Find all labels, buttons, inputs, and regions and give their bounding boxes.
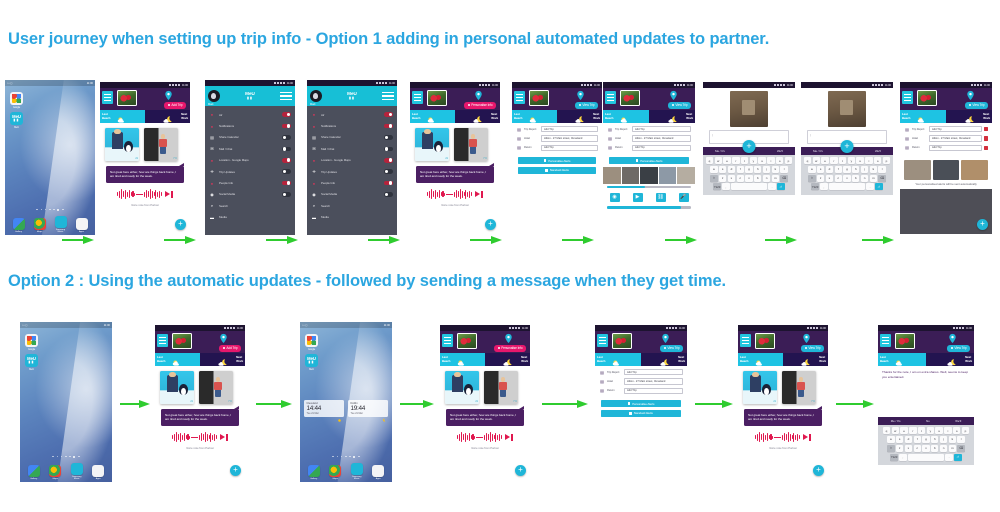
photo-card[interactable]: 7 C: [782, 371, 816, 404]
suggestion[interactable]: Me / It's: [813, 149, 823, 153]
key-d[interactable]: d: [728, 166, 735, 173]
settings-row[interactable]: ▬Media: [307, 212, 397, 223]
key-u[interactable]: u: [935, 427, 942, 434]
key-j[interactable]: j: [940, 436, 947, 443]
key-f[interactable]: f: [737, 166, 744, 173]
key-d[interactable]: d: [905, 436, 912, 443]
key-b[interactable]: b: [931, 445, 938, 452]
space-key[interactable]: [731, 183, 767, 190]
page-title-option-2: Option 2 : Using the automatic updates -…: [8, 272, 726, 291]
settings-label: Media: [219, 215, 291, 219]
settings-toggle[interactable]: [282, 158, 291, 163]
photo-card[interactable]: 7 C: [484, 371, 518, 404]
apps-icon[interactable]: Apps: [76, 218, 88, 233]
media-thumbnail[interactable]: [677, 167, 695, 184]
form-input[interactable]: Hilton - 27 Main street, Cleveland: [632, 135, 691, 141]
key-h[interactable]: h: [754, 166, 761, 173]
maps-icon[interactable]: Maps: [329, 465, 341, 480]
cta-button[interactable]: Add Trip: [164, 102, 186, 109]
key-e[interactable]: e: [723, 157, 730, 164]
key-f[interactable]: f: [914, 436, 921, 443]
meu-glyph: MeU▮▮: [305, 354, 318, 367]
key-h[interactable]: h: [931, 436, 938, 443]
trip-photo-thumbnail[interactable]: [172, 333, 192, 349]
play-icon[interactable]: [220, 434, 227, 441]
settings-toggle[interactable]: [282, 181, 291, 186]
play-icon[interactable]: [475, 191, 482, 198]
media-thumbnail[interactable]: [622, 167, 640, 184]
settings-row[interactable]: ●Notifications: [205, 120, 295, 131]
enter-key[interactable]: ⏎: [954, 454, 961, 461]
form-input[interactable]: Add Trip: [624, 388, 683, 394]
num-key[interactable]: ?123: [890, 454, 897, 461]
fab-add-button[interactable]: +: [230, 465, 241, 476]
audio-waveform[interactable]: [410, 188, 500, 200]
key-v[interactable]: v: [843, 175, 850, 182]
audio-waveform[interactable]: [738, 431, 828, 443]
key-j[interactable]: j: [763, 166, 770, 173]
gallery-icon[interactable]: Gallery: [308, 465, 320, 480]
hamburger-icon[interactable]: [102, 91, 113, 104]
fab-add-button[interactable]: +: [977, 219, 988, 230]
confirm-thumbnail[interactable]: [904, 160, 931, 180]
settings-toggle[interactable]: [282, 135, 291, 140]
settings-row[interactable]: ●Air: [307, 109, 397, 120]
comma-key[interactable]: ,: [820, 183, 827, 190]
form-input[interactable]: Add Trip: [632, 126, 691, 132]
status-icon: [227, 327, 229, 330]
hamburger-icon[interactable]: [902, 91, 913, 104]
hamburger-icon[interactable]: [880, 334, 891, 347]
photo-card[interactable]: 7 C: [199, 371, 233, 404]
hamburger-icon[interactable]: [280, 92, 292, 100]
location-pin-icon[interactable]: [947, 333, 958, 344]
photo-card[interactable]: 7 C: [454, 128, 488, 161]
cta-button[interactable]: Personalise Info: [464, 102, 496, 109]
trip-photo-thumbnail[interactable]: [755, 333, 775, 349]
avatar[interactable]: [208, 90, 220, 102]
key-x[interactable]: x: [728, 175, 735, 182]
apps-icon[interactable]: Apps: [92, 465, 104, 480]
key-s[interactable]: s: [719, 166, 726, 173]
wave-bar: [765, 435, 766, 440]
status-icon: [283, 82, 285, 85]
photo-card[interactable]: 21: [415, 128, 449, 161]
app-brand: MeU▮▮: [347, 91, 357, 101]
hamburger-icon[interactable]: [382, 92, 394, 100]
location-pin-icon[interactable]: [575, 90, 586, 101]
key-a[interactable]: a: [710, 166, 717, 173]
key-t[interactable]: t: [741, 157, 748, 164]
cta-button[interactable]: View Trip: [668, 102, 691, 109]
key-e[interactable]: e: [821, 157, 828, 164]
settings-row[interactable]: ✉Mail / Chat: [205, 143, 295, 154]
form-row: ▤ReturnAdd Trip: [607, 145, 691, 151]
key-r[interactable]: r: [732, 157, 739, 164]
settings-row[interactable]: ●Air: [205, 109, 295, 120]
google-folder-icon[interactable]: Google: [25, 334, 38, 351]
key-v[interactable]: v: [745, 175, 752, 182]
key-k[interactable]: k: [870, 166, 877, 173]
key-c[interactable]: c: [737, 175, 744, 182]
period-key[interactable]: .: [866, 183, 873, 190]
settings-toggle[interactable]: [384, 135, 393, 140]
composer-photo[interactable]: [730, 91, 768, 127]
fab-add-button[interactable]: +: [175, 219, 186, 230]
key-r[interactable]: r: [830, 157, 837, 164]
form-input[interactable]: Add Trip: [541, 145, 598, 151]
shift-key[interactable]: ⇧: [710, 175, 717, 182]
cta-button[interactable]: View Trip: [947, 345, 970, 352]
hamburger-icon[interactable]: [597, 334, 608, 347]
personalise-alerts-button[interactable]: Personalise Alerts: [601, 400, 681, 407]
media-thumbnail[interactable]: [659, 167, 677, 184]
settings-toggle[interactable]: [384, 158, 393, 163]
key-b[interactable]: b: [754, 175, 761, 182]
key-b[interactable]: b: [852, 175, 859, 182]
maps-icon[interactable]: Maps: [49, 465, 61, 480]
meu-app-icon[interactable]: MeU▮▮MeU: [305, 354, 318, 371]
form-input[interactable]: Add Trip: [929, 126, 982, 132]
photo-card[interactable]: 7 C: [144, 128, 178, 161]
settings-row[interactable]: ✛Trip Updates: [307, 166, 397, 177]
photo-card[interactable]: 21: [160, 371, 194, 404]
settings-toggle[interactable]: [384, 124, 393, 129]
form-input[interactable]: Add Trip: [541, 126, 598, 132]
media-thumbnail[interactable]: [603, 167, 621, 184]
music-icon[interactable]: Samsung Music: [55, 216, 67, 233]
key-u[interactable]: u: [758, 157, 765, 164]
key-m[interactable]: m: [870, 175, 877, 182]
status-icon: [277, 82, 279, 85]
key-c[interactable]: c: [914, 445, 921, 452]
space-key[interactable]: [908, 454, 944, 461]
key-o[interactable]: o: [953, 427, 960, 434]
key-i[interactable]: i: [944, 427, 951, 434]
meu-app-icon[interactable]: MeU▮▮MeU: [10, 112, 23, 129]
location-pin-icon[interactable]: [801, 333, 812, 344]
form-input[interactable]: Add Trip: [632, 145, 691, 151]
backspace-key[interactable]: ⌫: [878, 175, 885, 182]
settings-row[interactable]: ●Location - Google Maps: [307, 155, 397, 166]
key-y[interactable]: y: [848, 157, 855, 164]
key-z[interactable]: z: [896, 445, 903, 452]
key-u[interactable]: u: [856, 157, 863, 164]
key-g[interactable]: g: [745, 166, 752, 173]
settings-row[interactable]: ◉Social Media: [205, 189, 295, 200]
form-input[interactable]: Hilton - 27 Main street, Cleveland: [624, 378, 683, 384]
location-pin-icon[interactable]: [218, 333, 229, 344]
key-q[interactable]: q: [706, 157, 713, 164]
settings-row[interactable]: ●Location - Google Maps: [205, 155, 295, 166]
cta-icon: [168, 104, 170, 106]
settings-row[interactable]: ✉Mail / Chat: [307, 143, 397, 154]
enter-key[interactable]: ⏎: [777, 183, 784, 190]
trip-photo-thumbnail[interactable]: [457, 333, 477, 349]
trip-photo-thumbnail[interactable]: [529, 90, 549, 106]
key-w[interactable]: w: [892, 427, 899, 434]
delete-icon[interactable]: [984, 146, 988, 151]
form-label: Hotel: [615, 137, 632, 140]
form-input[interactable]: Add Trip: [624, 369, 683, 375]
media-scrollbar[interactable]: [607, 186, 691, 188]
key-n[interactable]: n: [940, 445, 947, 452]
cta-button[interactable]: Add Trip: [219, 345, 241, 352]
clock-widget[interactable]: Dublin19:44Tue 21 Mar: [348, 400, 388, 417]
cta-button[interactable]: View Trip: [660, 345, 683, 352]
composer-add-button[interactable]: +: [841, 140, 854, 153]
key-i[interactable]: i: [767, 157, 774, 164]
audio-waveform[interactable]: [100, 188, 190, 200]
weather-left-label: LastBeach: [442, 356, 450, 363]
maps-icon[interactable]: Maps: [34, 218, 46, 233]
fab-add-button[interactable]: +: [515, 465, 526, 476]
key-q[interactable]: q: [883, 427, 890, 434]
key-k[interactable]: k: [772, 166, 779, 173]
music-icon[interactable]: Samsung Music: [351, 463, 363, 480]
key-y[interactable]: y: [750, 157, 757, 164]
settings-row[interactable]: ◉Social Media: [307, 189, 397, 200]
suggestion[interactable]: Me / It's: [715, 149, 725, 153]
composer-photo[interactable]: [828, 91, 866, 127]
standard-alerts-button[interactable]: Standard Alerts: [518, 167, 596, 174]
backspace-key[interactable]: ⌫: [957, 445, 964, 452]
key-f[interactable]: f: [835, 166, 842, 173]
key-a[interactable]: a: [887, 436, 894, 443]
photo-card[interactable]: 21: [445, 371, 479, 404]
settings-row[interactable]: ●People Info: [307, 177, 397, 188]
trip-photo-thumbnail[interactable]: [612, 333, 632, 349]
apps-icon[interactable]: Apps: [372, 465, 384, 480]
key-l[interactable]: l: [878, 166, 885, 173]
settings-toggle[interactable]: [282, 192, 291, 197]
key-a[interactable]: a: [808, 166, 815, 173]
wave-bar: [471, 192, 472, 196]
key-h[interactable]: h: [852, 166, 859, 173]
flow-arrow: [562, 234, 594, 246]
clock-widget[interactable]: Cleveland14:44Tue 21 Mar: [304, 400, 344, 417]
key-e[interactable]: e: [900, 427, 907, 434]
key-k[interactable]: k: [949, 436, 956, 443]
key-w[interactable]: w: [813, 157, 820, 164]
key-x[interactable]: x: [905, 445, 912, 452]
cta-button[interactable]: View Trip: [801, 345, 824, 352]
settings-toggle[interactable]: [384, 181, 393, 186]
key-p[interactable]: p: [785, 157, 792, 164]
photo-card[interactable]: 21: [105, 128, 139, 161]
key-r[interactable]: r: [909, 427, 916, 434]
personalise-alerts-button[interactable]: Personalise Alerts: [609, 157, 689, 164]
comma-key[interactable]: ,: [722, 183, 729, 190]
hamburger-icon[interactable]: [514, 91, 525, 104]
google-folder-icon[interactable]: Google: [305, 334, 318, 351]
key-z[interactable]: z: [719, 175, 726, 182]
key-g[interactable]: g: [843, 166, 850, 173]
page-dot: [345, 456, 347, 458]
voice-note-caption: Voice note from Partner: [100, 203, 190, 207]
status-icon: [774, 84, 776, 87]
play-icon[interactable]: [165, 191, 172, 198]
space-key[interactable]: [829, 183, 865, 190]
status-icon: [962, 327, 964, 330]
audio-waveform[interactable]: [440, 431, 530, 443]
suggestion[interactable]: We'll: [777, 149, 783, 153]
location-pin-icon[interactable]: [668, 90, 679, 101]
status-icon: [515, 327, 517, 330]
settings-row[interactable]: ▤Share Calendar: [205, 132, 295, 143]
settings-toggle[interactable]: [384, 112, 393, 117]
weather-right: NextWork: [946, 110, 992, 123]
cta-label: View Trip: [667, 346, 679, 350]
settings-toggle[interactable]: [282, 124, 291, 129]
key-t[interactable]: t: [918, 427, 925, 434]
status-icon: [977, 84, 979, 87]
trip-photo-thumbnail[interactable]: [117, 90, 137, 106]
form-input[interactable]: Hilton - 27 Main street, Cleveland: [541, 135, 598, 141]
fab-add-button[interactable]: +: [485, 219, 496, 230]
settings-row[interactable]: ⌕Search: [205, 200, 295, 211]
settings-toggle[interactable]: [282, 147, 291, 152]
key-w[interactable]: w: [715, 157, 722, 164]
key-o[interactable]: o: [874, 157, 881, 164]
period-key[interactable]: .: [768, 183, 775, 190]
settings-row[interactable]: ▤Share Calendar: [307, 132, 397, 143]
backspace-key[interactable]: ⌫: [780, 175, 787, 182]
settings-row[interactable]: ●Notifications: [307, 120, 397, 131]
media-thumbnail[interactable]: [640, 167, 658, 184]
key-m[interactable]: m: [949, 445, 956, 452]
google-folder-icon[interactable]: Google: [10, 92, 23, 109]
audio-waveform[interactable]: [155, 431, 245, 443]
comma-key[interactable]: ,: [899, 454, 906, 461]
key-n[interactable]: n: [763, 175, 770, 182]
enter-key[interactable]: ⏎: [875, 183, 882, 190]
composer-add-button[interactable]: +: [743, 140, 756, 153]
settings-toggle[interactable]: [384, 192, 393, 197]
key-g[interactable]: g: [922, 436, 929, 443]
settings-row[interactable]: ✛Trip Updates: [205, 166, 295, 177]
weather-left-label: LastBeach: [412, 113, 420, 120]
shift-key[interactable]: ⇧: [887, 445, 894, 452]
key-l[interactable]: l: [780, 166, 787, 173]
media-thumbnail-strip[interactable]: [603, 167, 695, 184]
key-p[interactable]: p: [883, 157, 890, 164]
status-left-icons: ▫ ▪ ◻: [302, 324, 307, 327]
period-key[interactable]: .: [945, 454, 952, 461]
form-input[interactable]: Hilton - 27 Main street, Cleveland: [929, 135, 982, 141]
location-pin-icon[interactable]: [965, 90, 976, 101]
shift-key[interactable]: ⇧: [808, 175, 815, 182]
settings-toggle[interactable]: [282, 169, 291, 174]
wave-bar: [150, 189, 151, 199]
hamburger-icon[interactable]: [442, 334, 453, 347]
cta-button[interactable]: View Trip: [965, 102, 988, 109]
app-label: MeU: [10, 126, 23, 129]
key-p[interactable]: p: [962, 427, 969, 434]
settings-row[interactable]: ▬Media: [205, 212, 295, 223]
trip-photo-thumbnail[interactable]: [917, 90, 937, 106]
key-y[interactable]: y: [927, 427, 934, 434]
key-s[interactable]: s: [896, 436, 903, 443]
key-d[interactable]: d: [826, 166, 833, 173]
suggestion[interactable]: Me / It's: [891, 419, 901, 423]
link-tool[interactable]: ⛓: [656, 193, 666, 202]
hamburger-icon[interactable]: [157, 334, 168, 347]
location-pin-icon[interactable]: [473, 90, 484, 101]
music-icon[interactable]: Samsung Music: [71, 463, 83, 480]
note-icon: ▤: [904, 127, 910, 132]
location-pin-icon[interactable]: [163, 90, 174, 101]
key-q[interactable]: q: [804, 157, 811, 164]
page-scrollbar[interactable]: [607, 206, 691, 208]
hamburger-icon[interactable]: [740, 334, 751, 347]
mic-tool[interactable]: 🎤: [679, 193, 689, 202]
key-m[interactable]: m: [772, 175, 779, 182]
key-o[interactable]: o: [776, 157, 783, 164]
hamburger-icon[interactable]: [412, 91, 423, 104]
status-icon: [980, 84, 982, 87]
num-key[interactable]: ?123: [811, 183, 818, 190]
trip-photo-thumbnail[interactable]: [620, 90, 640, 106]
standard-alerts-button[interactable]: Standard Alerts: [601, 410, 681, 417]
delete-icon[interactable]: [984, 136, 988, 141]
meu-app-icon[interactable]: MeU▮▮MeU: [25, 354, 38, 371]
play-icon[interactable]: [803, 434, 810, 441]
settings-row[interactable]: ●People Info: [205, 177, 295, 188]
weather-left-label: LastBeach: [605, 113, 613, 120]
location-pin-icon[interactable]: [660, 333, 671, 344]
key-s[interactable]: s: [817, 166, 824, 173]
play-icon[interactable]: [505, 434, 512, 441]
cta-button[interactable]: Personalise Info: [494, 345, 526, 352]
key-v[interactable]: v: [922, 445, 929, 452]
suggestion[interactable]: We'll: [955, 419, 961, 423]
num-key[interactable]: ?123: [713, 183, 720, 190]
gallery-icon[interactable]: Gallery: [28, 465, 40, 480]
hamburger-icon[interactable]: [605, 91, 616, 104]
location-pin-icon[interactable]: [503, 333, 514, 344]
gallery-icon[interactable]: Gallery: [13, 218, 25, 233]
key-z[interactable]: z: [817, 175, 824, 182]
video-tool[interactable]: ▶: [633, 193, 643, 202]
key-x[interactable]: x: [826, 175, 833, 182]
settings-toggle[interactable]: [282, 112, 291, 117]
trip-photo-thumbnail[interactable]: [895, 333, 915, 349]
settings-toggle[interactable]: [384, 169, 393, 174]
photo-card[interactable]: 21: [743, 371, 777, 404]
key-l[interactable]: l: [957, 436, 964, 443]
location-tool[interactable]: ◉: [610, 193, 620, 202]
confirm-thumbnail[interactable]: [933, 160, 960, 180]
key-i[interactable]: i: [865, 157, 872, 164]
personalise-alerts-button[interactable]: Personalise Alerts: [518, 157, 596, 164]
avatar[interactable]: [310, 90, 322, 102]
key-c[interactable]: c: [835, 175, 842, 182]
delete-icon[interactable]: [984, 127, 988, 132]
suggestion[interactable]: No: [926, 419, 930, 423]
trip-photo-thumbnail[interactable]: [427, 90, 447, 106]
confirm-thumbnail[interactable]: [961, 160, 988, 180]
suggestion[interactable]: We'll: [875, 149, 881, 153]
form-input[interactable]: Add Trip: [929, 145, 982, 151]
settings-toggle[interactable]: [384, 147, 393, 152]
settings-row[interactable]: ⌕Search: [307, 200, 397, 211]
fab-add-button[interactable]: +: [813, 465, 824, 476]
cta-button[interactable]: View Trip: [575, 102, 598, 109]
key-n[interactable]: n: [861, 175, 868, 182]
key-j[interactable]: j: [861, 166, 868, 173]
key-t[interactable]: t: [839, 157, 846, 164]
